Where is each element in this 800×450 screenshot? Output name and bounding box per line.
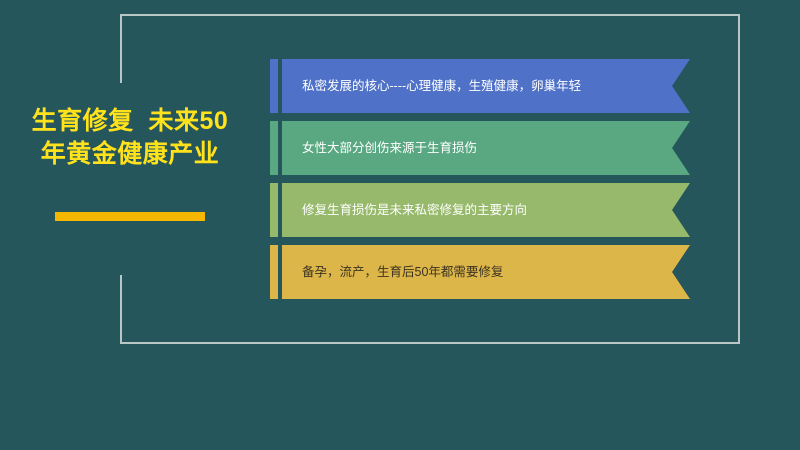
frame-border-right [738, 14, 740, 344]
frame-border-top [120, 14, 740, 16]
frame-border-left-upper [120, 14, 122, 83]
banner-label: 私密发展的核心----心理健康，生殖健康，卵巢年轻 [282, 79, 617, 94]
banner-label: 备孕，流产，生育后50年都需要修复 [282, 265, 539, 280]
banner-body[interactable]: 备孕，流产，生育后50年都需要修复 [282, 245, 690, 299]
slide-canvas: 生育修复 未来50年黄金健康产业 私密发展的核心----心理健康，生殖健康，卵巢… [0, 0, 800, 450]
banner-body[interactable]: 修复生育损伤是未来私密修复的主要方向 [282, 183, 690, 237]
frame-border-bottom [120, 342, 740, 344]
banner-body[interactable]: 私密发展的核心----心理健康，生殖健康，卵巢年轻 [282, 59, 690, 113]
frame-border-left-lower [120, 275, 122, 344]
banner-label: 修复生育损伤是未来私密修复的主要方向 [282, 203, 563, 218]
title-underline-bar [55, 212, 205, 221]
title-block: 生育修复 未来50年黄金健康产业 [30, 105, 230, 171]
banner-body[interactable]: 女性大部分创伤来源于生育损伤 [282, 121, 690, 175]
banner-accent-bar [270, 59, 278, 113]
banner-label: 女性大部分创伤来源于生育损伤 [282, 141, 513, 156]
banner-accent-bar [270, 121, 278, 175]
slide-title: 生育修复 未来50年黄金健康产业 [30, 105, 230, 171]
banner-accent-bar [270, 183, 278, 237]
banner-accent-bar [270, 245, 278, 299]
